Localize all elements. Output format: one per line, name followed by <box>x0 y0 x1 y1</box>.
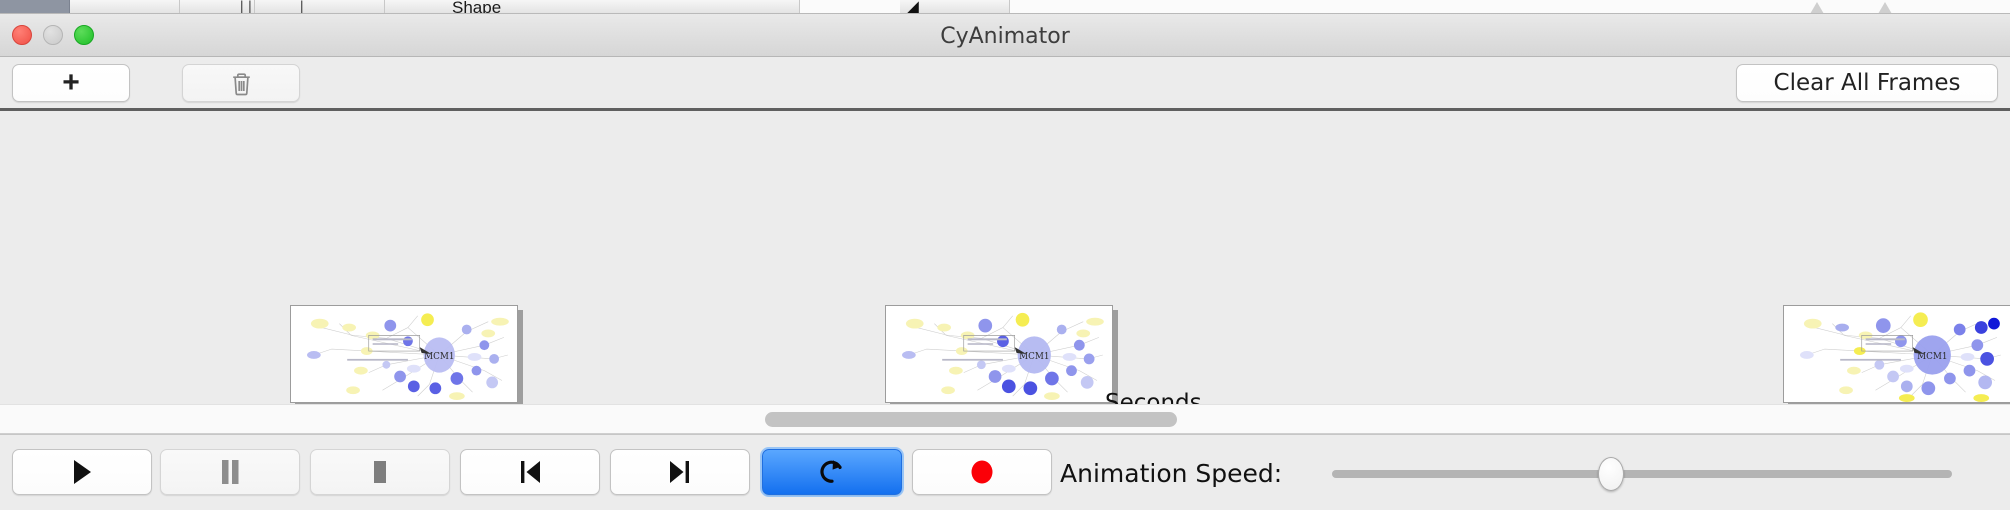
skip-end-button[interactable] <box>610 449 750 495</box>
bg-bracket-glyph: | | <box>240 0 252 14</box>
axis-label: Seconds <box>1105 390 1202 404</box>
slider-thumb[interactable] <box>1598 457 1624 491</box>
record-icon <box>969 458 995 486</box>
bg-triangle-glyph <box>1878 2 1892 14</box>
bg-tab <box>385 0 800 14</box>
playback-control-bar: Animation Speed: <box>0 434 2010 510</box>
bg-caret-glyph: ◢ <box>905 0 919 14</box>
play-icon <box>71 459 93 485</box>
loop-icon <box>819 458 845 486</box>
toolbar: + Clear All Frames <box>0 57 2010 111</box>
stop-icon <box>369 459 391 485</box>
network-graph-preview: MCM1 <box>886 306 1112 402</box>
animation-speed-slider[interactable] <box>1332 470 1952 478</box>
delete-frame-button[interactable] <box>182 64 300 102</box>
frame-thumbnail[interactable]: MCM1 <box>1783 305 2010 403</box>
frame-thumbnail[interactable]: MCM1 <box>290 305 518 403</box>
window-title: CyAnimator <box>0 24 2010 49</box>
pause-icon <box>219 459 241 485</box>
bg-tab <box>70 0 180 14</box>
add-frame-button[interactable]: + <box>12 64 130 102</box>
background-window-strip: | | | Shape ◢ <box>0 0 2010 14</box>
svg-text:MCM1: MCM1 <box>1917 352 1947 362</box>
timeline-panel[interactable]: MCM1 <box>0 111 2010 404</box>
network-graph-preview: MCM1 <box>291 306 517 402</box>
loop-button[interactable] <box>762 449 902 495</box>
bg-selected-tab <box>0 0 70 14</box>
bg-triangle-glyph <box>1810 2 1824 14</box>
title-bar: CyAnimator <box>0 14 2010 57</box>
skip-end-icon <box>667 459 693 485</box>
stop-button[interactable] <box>310 449 450 495</box>
svg-text:MCM1: MCM1 <box>1019 352 1049 362</box>
record-button[interactable] <box>912 449 1052 495</box>
play-button[interactable] <box>12 449 152 495</box>
cyanimator-window: CyAnimator + Clear All Frames <box>0 14 2010 510</box>
skip-start-button[interactable] <box>460 449 600 495</box>
network-graph-preview: MCM1 <box>1784 306 2010 402</box>
bg-bracket-glyph: | <box>300 0 304 14</box>
horizontal-scrollbar[interactable] <box>0 404 2010 434</box>
svg-text:MCM1: MCM1 <box>424 352 454 362</box>
animation-speed-label: Animation Speed: <box>1060 459 1282 488</box>
clear-all-frames-button[interactable]: Clear All Frames <box>1736 64 1998 102</box>
trash-icon <box>230 71 253 96</box>
skip-start-icon <box>517 459 543 485</box>
frame-thumbnail[interactable]: MCM1 <box>885 305 1113 403</box>
plus-icon: + <box>62 68 80 98</box>
pause-button[interactable] <box>160 449 300 495</box>
bg-window-partial-label: Shape <box>452 0 501 14</box>
bg-tab <box>255 0 385 14</box>
scrollbar-thumb[interactable] <box>765 412 1177 427</box>
